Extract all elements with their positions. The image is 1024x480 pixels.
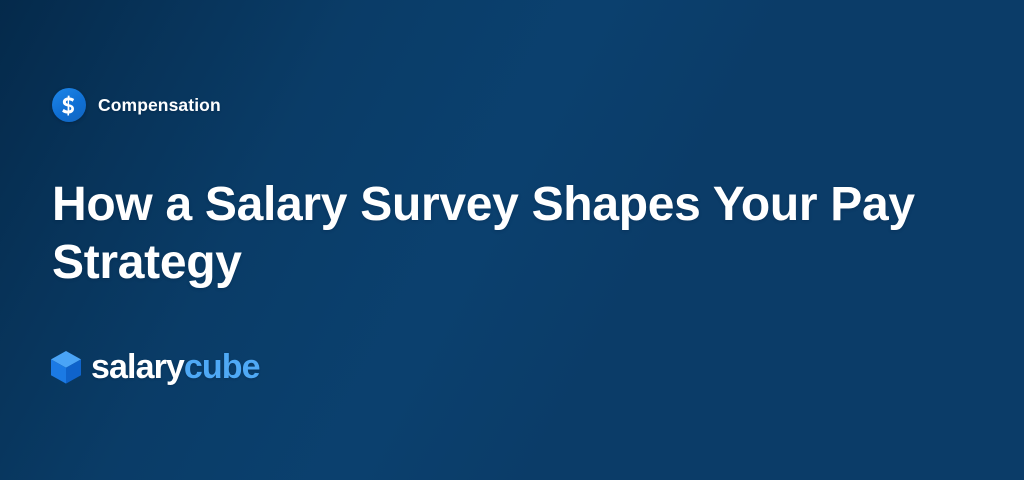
logo-word-accent: cube (184, 348, 260, 386)
dollar-sign-circle-icon (52, 88, 86, 122)
banner-canvas: Compensation How a Salary Survey Shapes … (0, 0, 1024, 480)
salarycube-logo: salarycube (50, 350, 260, 384)
banner-content: Compensation How a Salary Survey Shapes … (0, 0, 1024, 480)
category-badge: Compensation (52, 88, 221, 122)
logo-word-primary: salary (91, 348, 184, 386)
logo-wordmark: salarycube (91, 350, 260, 384)
category-label: Compensation (98, 95, 221, 116)
page-title: How a Salary Survey Shapes Your Pay Stra… (52, 176, 932, 292)
cube-icon (50, 350, 82, 384)
